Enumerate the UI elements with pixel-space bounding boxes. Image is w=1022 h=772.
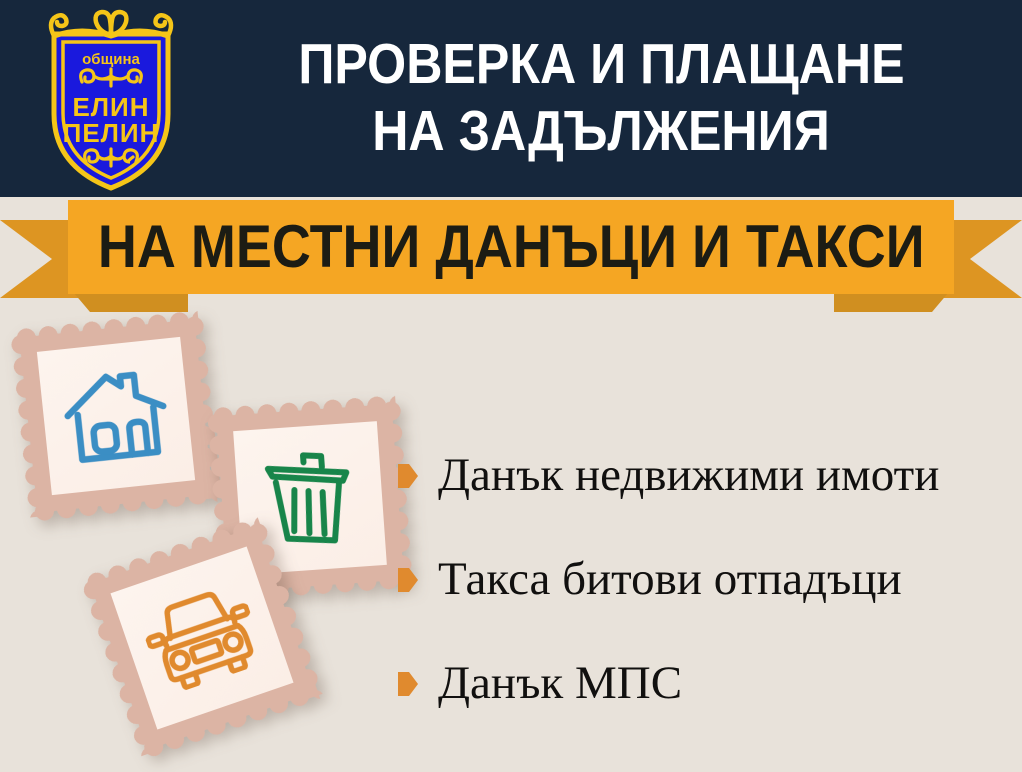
poster-root: община ЕЛИН ПЕЛИН ПРОВЕРКА И П [0,0,1022,772]
logo-label-obshtina: община [82,51,140,68]
logo-label-pelin: ПЕЛИН [63,118,160,148]
list-item-label: Данък недвижими имоти [438,451,939,500]
title-line-1: ПРОВЕРКА И ПЛАЩАНЕ [298,31,904,98]
list-item[interactable]: Данък недвижими имоти [398,424,1008,528]
stamp-paper [37,337,195,495]
list-item-label: Данък МПС [438,659,682,708]
arrow-bullet-icon [398,568,418,592]
list-item[interactable]: Данък МПС [398,632,1008,736]
poster-title: ПРОВЕРКА И ПЛАЩАНЕ НА ЗАДЪЛЖЕНИЯ [192,18,1010,178]
car-front-icon [137,579,268,697]
house-icon [59,363,172,469]
list-item[interactable]: Такса битови отпадъци [398,528,1008,632]
ribbon-text: НА МЕСТНИ ДАНЪЦИ И ТАКСИ [98,217,925,277]
arrow-bullet-icon [398,464,418,488]
list-item-label: Такса битови отпадъци [438,555,902,604]
municipality-logo: община ЕЛИН ПЕЛИН [36,6,186,194]
title-line-2: НА ЗАДЪЛЖЕНИЯ [372,98,830,165]
ribbon-main-panel: НА МЕСТНИ ДАНЪЦИ И ТАКСИ [68,200,954,294]
tax-type-list: Данък недвижими имоти Такса битови отпад… [398,424,1008,736]
stamp-card-house [8,308,223,523]
ribbon-banner: НА МЕСТНИ ДАНЪЦИ И ТАКСИ [0,198,1022,308]
coat-of-arms-icon: община ЕЛИН ПЕЛИН [36,6,186,194]
arrow-bullet-icon [398,672,418,696]
trash-bin-icon [261,446,360,550]
